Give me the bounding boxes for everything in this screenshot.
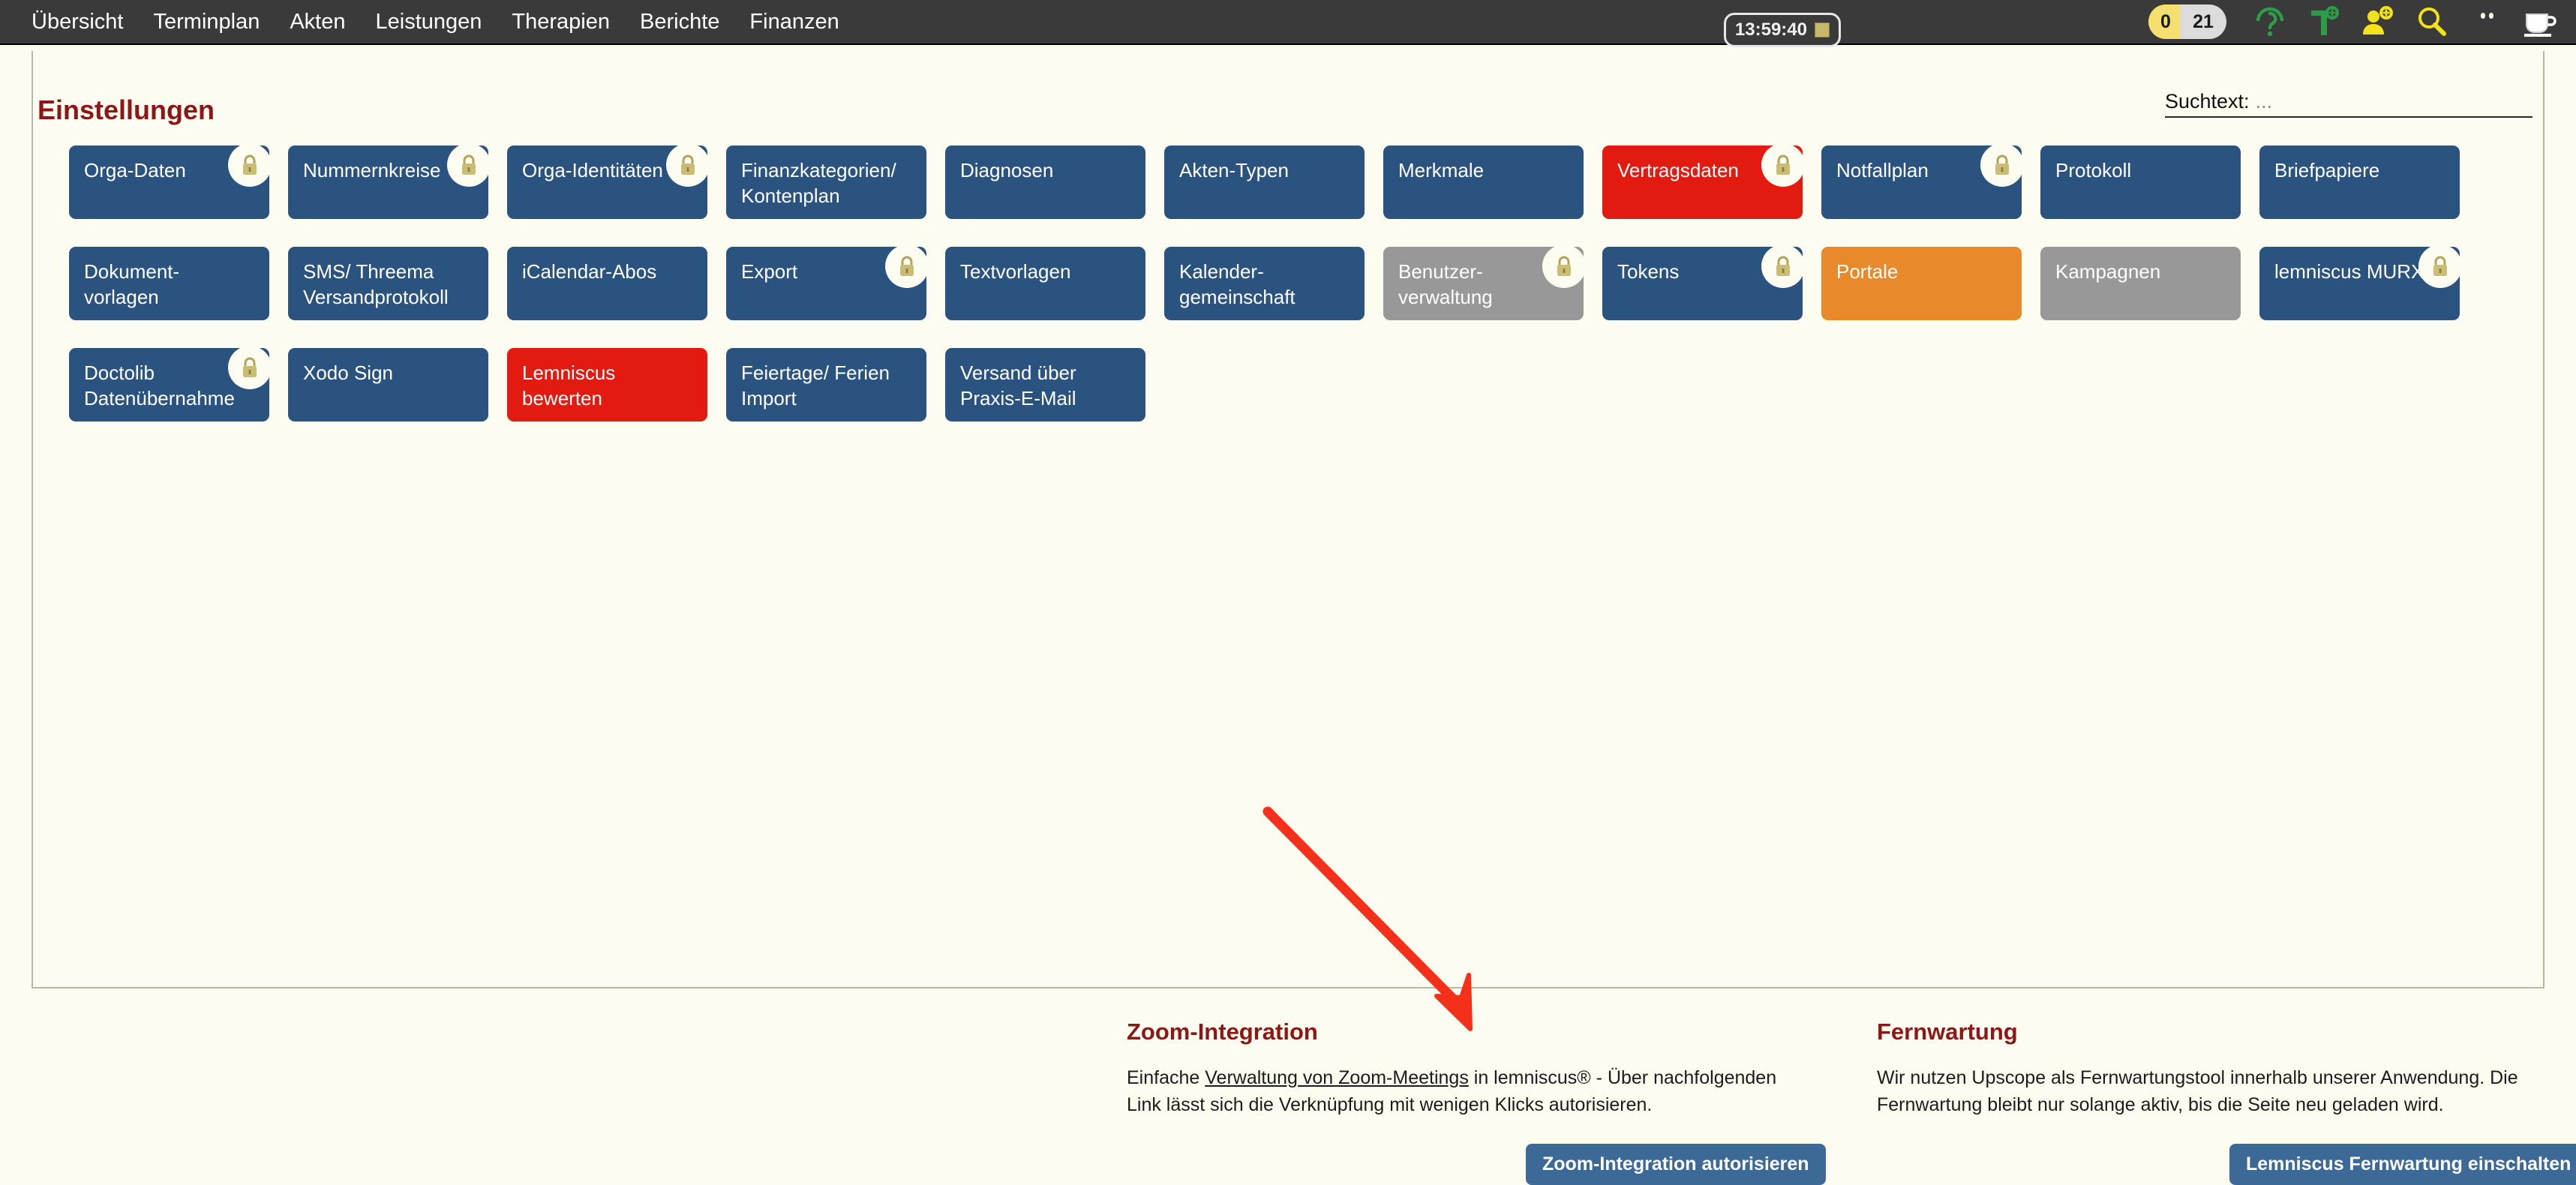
settings-tile[interactable]: Textvorlagen	[945, 247, 1145, 320]
settings-tile[interactable]: Versand über Praxis-E-Mail	[945, 348, 1145, 421]
settings-tile-label: Finanzkategorien/ Kontenplan	[741, 157, 911, 209]
lock-icon	[2418, 244, 2462, 288]
authorize-zoom-integration-button[interactable]: Zoom-Integration autorisieren	[1526, 1144, 1826, 1185]
settings-tile-label: Kalender- gemeinschaft	[1179, 259, 1350, 310]
settings-tile[interactable]: Orga-Identitäten	[507, 145, 707, 219]
settings-tile-label: iCalendar-Abos	[522, 259, 692, 284]
search-icon[interactable]	[2405, 0, 2459, 44]
counter-left-value: 0	[2148, 4, 2183, 39]
search-label: Suchtext:	[2165, 90, 2250, 113]
settings-tile-label: Versand über Praxis-E-Mail	[960, 360, 1130, 412]
settings-tile-label: Diagnosen	[960, 157, 1130, 183]
settings-tile-label: Kampagnen	[2055, 259, 2226, 284]
nav-item-terminplan[interactable]: Terminplan	[139, 10, 275, 34]
settings-tile-label: Merkmale	[1398, 157, 1569, 183]
help-icon[interactable]	[2243, 0, 2297, 44]
coffee-cup-icon[interactable]	[2513, 0, 2567, 44]
session-timer[interactable]: 13:59:40	[1724, 13, 1841, 47]
settings-tile[interactable]: Orga-Daten	[69, 145, 269, 219]
settings-tile-grid: Orga-DatenNummernkreiseOrga-IdentitätenF…	[69, 145, 2484, 449]
settings-tile[interactable]: Lemniscus bewerten	[507, 348, 707, 421]
settings-tile[interactable]: Xodo Sign	[288, 348, 488, 421]
settings-tile[interactable]: lemniscus MURXY!	[2259, 247, 2460, 320]
settings-tile[interactable]: Nummernkreise	[288, 145, 488, 219]
fernwartung-section-title: Fernwartung	[1877, 1018, 2574, 1045]
lock-icon	[1761, 143, 1805, 187]
settings-tile-label: Akten-Typen	[1179, 157, 1350, 183]
zoom-section-title: Zoom-Integration	[1127, 1018, 1787, 1045]
settings-tile[interactable]: Doctolib Datenübernahme	[69, 348, 269, 421]
fernwartung-section-body: Wir nutzen Upscope als Fernwartungstool …	[1877, 1065, 2574, 1118]
settings-tile[interactable]: Benutzer- verwaltung	[1383, 247, 1584, 320]
fernwartung-section: Fernwartung Wir nutzen Upscope als Fernw…	[1877, 1018, 2574, 1118]
settings-tile-label: Textvorlagen	[960, 259, 1130, 284]
lock-icon	[885, 244, 929, 288]
settings-tile-label: Protokoll	[2055, 157, 2226, 183]
nav-item-berichte[interactable]: Berichte	[625, 10, 734, 34]
lock-icon	[666, 143, 710, 187]
main-menu: Übersicht Terminplan Akten Leistungen Th…	[0, 10, 854, 34]
therapy-add-icon[interactable]	[2297, 0, 2351, 44]
settings-tile[interactable]: Portale	[1821, 247, 2022, 320]
settings-tile-label: Feiertage/ Ferien Import	[741, 360, 911, 412]
lock-icon	[1980, 143, 2024, 187]
color-palette-icon[interactable]	[2459, 0, 2513, 44]
settings-tile[interactable]: Feiertage/ Ferien Import	[726, 348, 926, 421]
settings-tile[interactable]: Kalender- gemeinschaft	[1164, 247, 1365, 320]
top-navigation-bar: Übersicht Terminplan Akten Leistungen Th…	[0, 0, 2576, 45]
settings-tile[interactable]: Vertragsdaten	[1602, 145, 1803, 219]
settings-tile[interactable]: iCalendar-Abos	[507, 247, 707, 320]
settings-tile[interactable]: Akten-Typen	[1164, 145, 1365, 219]
nav-item-therapien[interactable]: Therapien	[497, 10, 625, 34]
settings-tile-label: Lemniscus bewerten	[522, 360, 692, 412]
timer-stop-icon[interactable]	[1815, 22, 1830, 37]
toolbar-right: 13:59:40 0 21	[1724, 0, 2576, 44]
zoom-meetings-link[interactable]: Verwaltung von Zoom-Meetings	[1205, 1067, 1469, 1088]
settings-tile[interactable]: Kampagnen	[2040, 247, 2241, 320]
settings-tile-label: SMS/ Threema Versandprotokoll	[303, 259, 473, 310]
add-patient-icon[interactable]	[2351, 0, 2405, 44]
nav-item-uebersicht[interactable]: Übersicht	[17, 10, 139, 34]
settings-tile-label: Xodo Sign	[303, 360, 473, 385]
settings-tile[interactable]: Diagnosen	[945, 145, 1145, 219]
lock-icon	[228, 143, 272, 187]
lock-icon	[1542, 244, 1586, 288]
settings-tile[interactable]: Dokument- vorlagen	[69, 247, 269, 320]
page-title: Einstellungen	[38, 94, 215, 126]
settings-tile[interactable]: Merkmale	[1383, 145, 1584, 219]
settings-tile-label: Briefpapiere	[2274, 157, 2445, 183]
nav-item-finanzen[interactable]: Finanzen	[734, 10, 854, 34]
lock-icon	[228, 346, 272, 389]
zoom-integration-section: Zoom-Integration Einfache Verwaltung von…	[1127, 1018, 1787, 1118]
settings-tile[interactable]: SMS/ Threema Versandprotokoll	[288, 247, 488, 320]
settings-tile[interactable]: Protokoll	[2040, 145, 2241, 219]
enable-remote-support-button[interactable]: Lemniscus Fernwartung einschalten	[2229, 1144, 2576, 1185]
settings-tile[interactable]: Finanzkategorien/ Kontenplan	[726, 145, 926, 219]
settings-tile[interactable]: Export	[726, 247, 926, 320]
counter-right-value: 21	[2180, 4, 2226, 39]
nav-item-leistungen[interactable]: Leistungen	[361, 10, 497, 34]
lock-icon	[447, 143, 491, 187]
zoom-section-body: Einfache Verwaltung von Zoom-Meetings in…	[1127, 1065, 1787, 1118]
timer-value: 13:59:40	[1735, 19, 1807, 40]
settings-tile[interactable]: Tokens	[1602, 247, 1803, 320]
nav-item-akten[interactable]: Akten	[275, 10, 360, 34]
search-input[interactable]: Suchtext: ...	[2165, 90, 2532, 118]
lock-icon	[1761, 244, 1805, 288]
zoom-text-before: Einfache	[1127, 1067, 1205, 1088]
search-value: ...	[2256, 90, 2273, 113]
settings-tile-label: Portale	[1836, 259, 2007, 284]
notification-counter[interactable]: 0 21	[2148, 4, 2226, 39]
settings-tile[interactable]: Briefpapiere	[2259, 145, 2460, 219]
settings-tile[interactable]: Notfallplan	[1821, 145, 2022, 219]
settings-tile-label: Dokument- vorlagen	[84, 259, 254, 310]
